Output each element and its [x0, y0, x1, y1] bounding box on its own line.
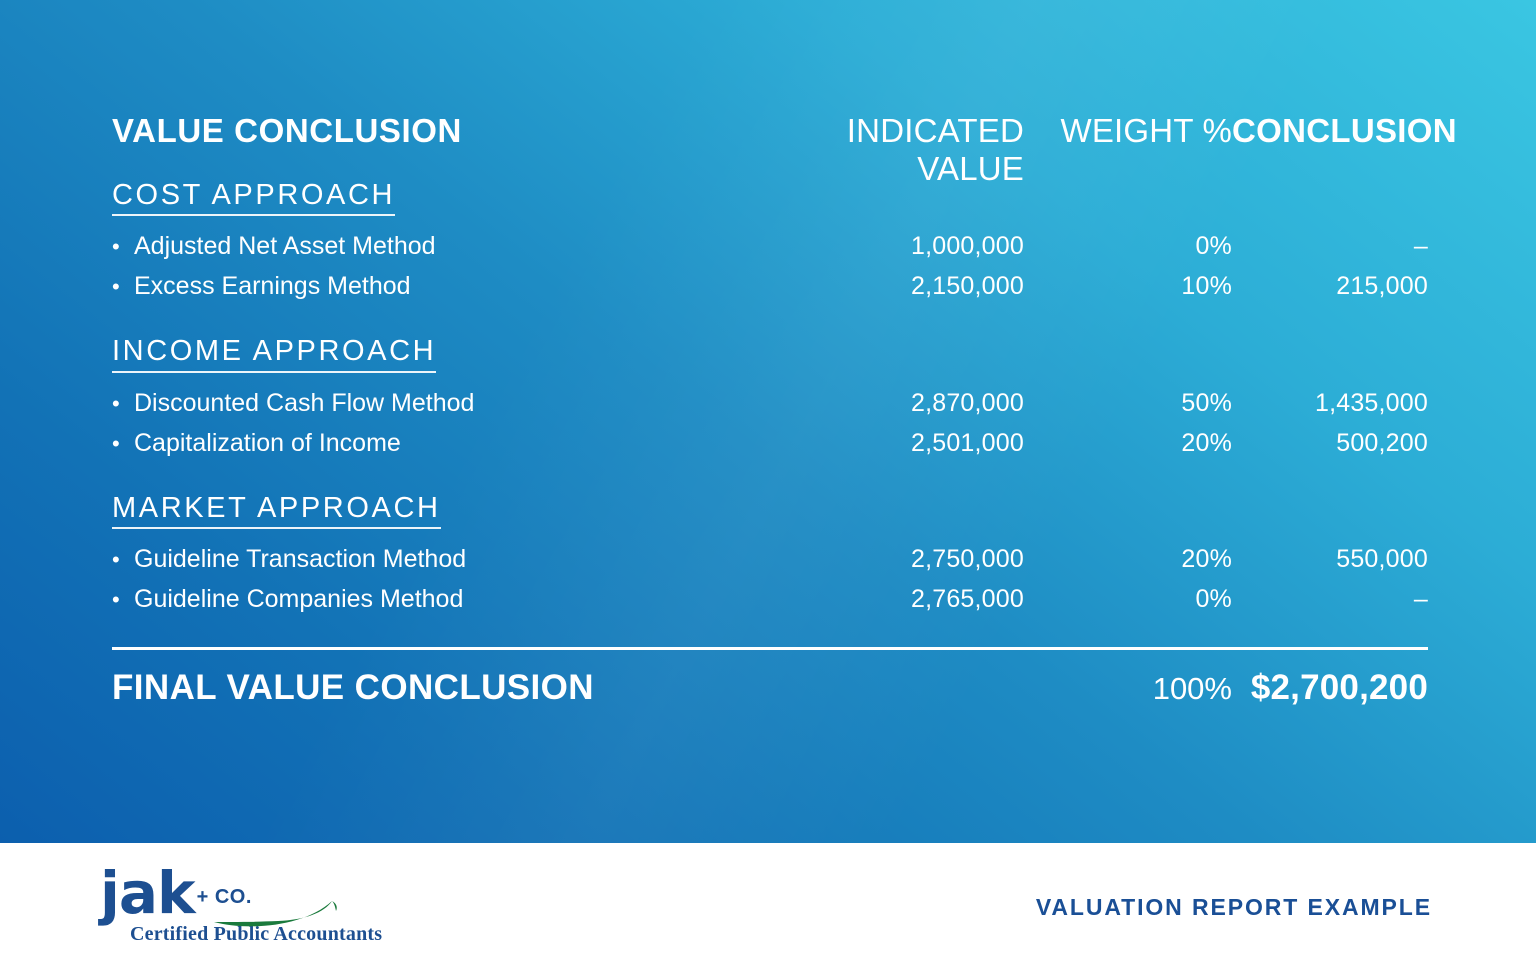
final-conclusion-total: $2,700,200 [1232, 668, 1428, 708]
bullet-icon: • [112, 433, 134, 455]
column-header-conclusion: CONCLUSION [1232, 112, 1428, 150]
method-name: Excess Earnings Method [134, 272, 411, 301]
table-row: • Excess Earnings Method 2,150,000 10% 2… [112, 272, 1428, 312]
bullet-icon: • [112, 549, 134, 571]
conclusion-cell: 215,000 [1232, 272, 1428, 301]
gradient-background: VALUE CONCLUSION INDICATED VALUE WEIGHT … [0, 0, 1536, 843]
indicated-value-cell: 2,150,000 [760, 272, 1024, 301]
weight-cell: 0% [1024, 585, 1232, 614]
section-spacer [112, 469, 1428, 483]
table-row: • Guideline Companies Method 2,765,000 0… [112, 585, 1428, 625]
conclusion-cell: – [1232, 232, 1428, 261]
weight-cell: 20% [1024, 545, 1232, 574]
weight-cell: 10% [1024, 272, 1232, 301]
final-value-row: FINAL VALUE CONCLUSION 100% $2,700,200 [112, 668, 1428, 724]
indicated-value-cell: 2,870,000 [760, 389, 1024, 418]
method-name: Capitalization of Income [134, 429, 401, 458]
weight-cell: 0% [1024, 232, 1232, 261]
conclusion-cell: 1,435,000 [1232, 389, 1428, 418]
weight-cell: 50% [1024, 389, 1232, 418]
logo-wordmark: jak [100, 867, 195, 920]
indicated-value-cell: 2,750,000 [760, 545, 1024, 574]
method-label-cell: • Capitalization of Income [112, 429, 760, 458]
method-label-cell: • Guideline Transaction Method [112, 545, 760, 574]
swoosh-icon [208, 889, 348, 929]
section-heading-income-approach: INCOME APPROACH [112, 336, 436, 372]
method-name: Guideline Companies Method [134, 585, 463, 614]
conclusion-cell: 550,000 [1232, 545, 1428, 574]
footer-bar: jak + CO. Certified Public Accountants V… [0, 843, 1536, 972]
bullet-icon: • [112, 236, 134, 258]
table-header-row: VALUE CONCLUSION INDICATED VALUE WEIGHT … [112, 112, 1428, 168]
weight-cell: 20% [1024, 429, 1232, 458]
method-label-cell: • Excess Earnings Method [112, 272, 760, 301]
bullet-icon: • [112, 393, 134, 415]
final-weight-total: 100% [1024, 671, 1232, 707]
method-label-cell: • Guideline Companies Method [112, 585, 760, 614]
section-market-approach: MARKET APPROACH [112, 493, 1428, 529]
table-row: • Guideline Transaction Method 2,750,000… [112, 545, 1428, 585]
column-header-value-conclusion: VALUE CONCLUSION [112, 112, 760, 150]
section-heading-cost-approach: COST APPROACH [112, 180, 395, 216]
valuation-table: VALUE CONCLUSION INDICATED VALUE WEIGHT … [112, 112, 1428, 724]
section-spacer [112, 312, 1428, 326]
method-name: Guideline Transaction Method [134, 545, 466, 574]
method-label-cell: • Adjusted Net Asset Method [112, 232, 760, 261]
section-heading-market-approach: MARKET APPROACH [112, 493, 441, 529]
table-row: • Adjusted Net Asset Method 1,000,000 0%… [112, 232, 1428, 272]
indicated-value-cell: 2,765,000 [760, 585, 1024, 614]
slide-root: VALUE CONCLUSION INDICATED VALUE WEIGHT … [0, 0, 1536, 972]
jak-logo: jak + CO. Certified Public Accountants [100, 863, 350, 953]
conclusion-cell: – [1232, 585, 1428, 614]
table-row: • Capitalization of Income 2,501,000 20%… [112, 429, 1428, 469]
bullet-icon: • [112, 589, 134, 611]
logo-mark: jak + CO. [100, 863, 350, 921]
footer-title: VALUATION REPORT EXAMPLE [1036, 894, 1432, 921]
method-label-cell: • Discounted Cash Flow Method [112, 389, 760, 418]
bullet-icon: • [112, 276, 134, 298]
section-income-approach: INCOME APPROACH [112, 336, 1428, 372]
table-row: • Discounted Cash Flow Method 2,870,000 … [112, 389, 1428, 429]
column-header-weight: WEIGHT % [1024, 112, 1232, 150]
indicated-value-cell: 1,000,000 [760, 232, 1024, 261]
conclusion-cell: 500,200 [1232, 429, 1428, 458]
final-value-label: FINAL VALUE CONCLUSION [112, 668, 760, 708]
column-header-indicated-value: INDICATED VALUE [760, 112, 1024, 188]
total-divider [112, 647, 1428, 650]
method-name: Discounted Cash Flow Method [134, 389, 474, 418]
indicated-value-cell: 2,501,000 [760, 429, 1024, 458]
method-name: Adjusted Net Asset Method [134, 232, 436, 261]
